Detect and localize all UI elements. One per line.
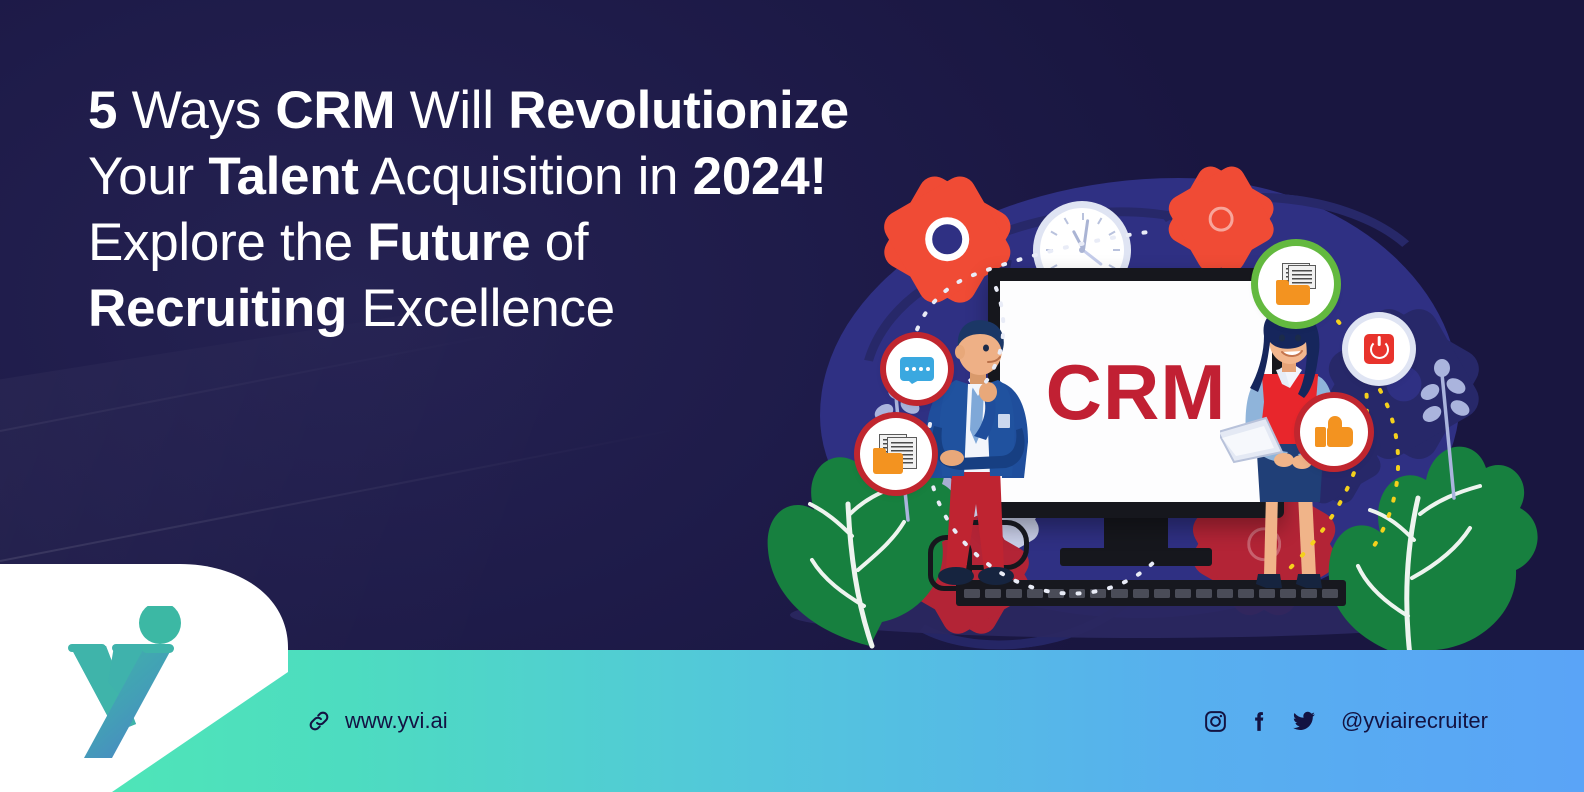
logo-panel (0, 564, 288, 792)
headline-seg: Talent (208, 147, 358, 206)
headline-seg: Will (395, 81, 508, 140)
yvi-logo (62, 606, 192, 766)
headline-seg: Acquisition in (359, 147, 693, 206)
badge-thumbs-up (1300, 398, 1368, 466)
headline-seg: 5 (88, 81, 117, 140)
social-handle: @yviairecruiter (1341, 708, 1488, 734)
folder-documents-icon (1274, 263, 1318, 305)
headline-line-4: Recruiting Excellence (88, 276, 1008, 342)
headline-seg: Revolutionize (508, 81, 849, 140)
chat-bubble-icon (900, 357, 934, 381)
headline-seg: Explore the (88, 213, 367, 272)
facebook-icon[interactable] (1247, 708, 1273, 734)
headline-seg: of (530, 213, 588, 272)
badge-folder (1258, 246, 1334, 322)
instagram-icon[interactable] (1203, 708, 1229, 734)
badge-power (1348, 318, 1410, 380)
folder-documents-icon (873, 434, 919, 474)
social-links: @yviairecruiter (1203, 708, 1488, 734)
power-icon (1364, 334, 1394, 364)
headline-seg: 2024! (693, 147, 827, 206)
marketing-banner: 5 Ways CRM Will Revolutionize Your Talen… (0, 0, 1584, 792)
headline-seg: Recruiting (88, 279, 347, 338)
thumbs-up-icon (1315, 417, 1353, 447)
dotted-path-center (910, 400, 1210, 620)
badge-documents (860, 418, 932, 490)
headline-seg: Future (367, 213, 530, 272)
headline-seg: Your (88, 147, 208, 206)
headline-line-1: 5 Ways CRM Will Revolutionize (88, 78, 1008, 144)
link-icon (306, 708, 332, 734)
headline-seg: Excellence (347, 279, 615, 338)
website-url-text: www.yvi.ai (345, 708, 448, 734)
headline-line-3: Explore the Future of (88, 210, 1008, 276)
headline-seg: Ways (117, 81, 275, 140)
website-url[interactable]: www.yvi.ai (306, 708, 448, 734)
headline-line-2: Your Talent Acquisition in 2024! (88, 144, 1008, 210)
badge-chat (886, 338, 948, 400)
headline: 5 Ways CRM Will Revolutionize Your Talen… (88, 78, 1008, 342)
twitter-icon[interactable] (1291, 708, 1317, 734)
headline-seg: CRM (275, 81, 395, 140)
